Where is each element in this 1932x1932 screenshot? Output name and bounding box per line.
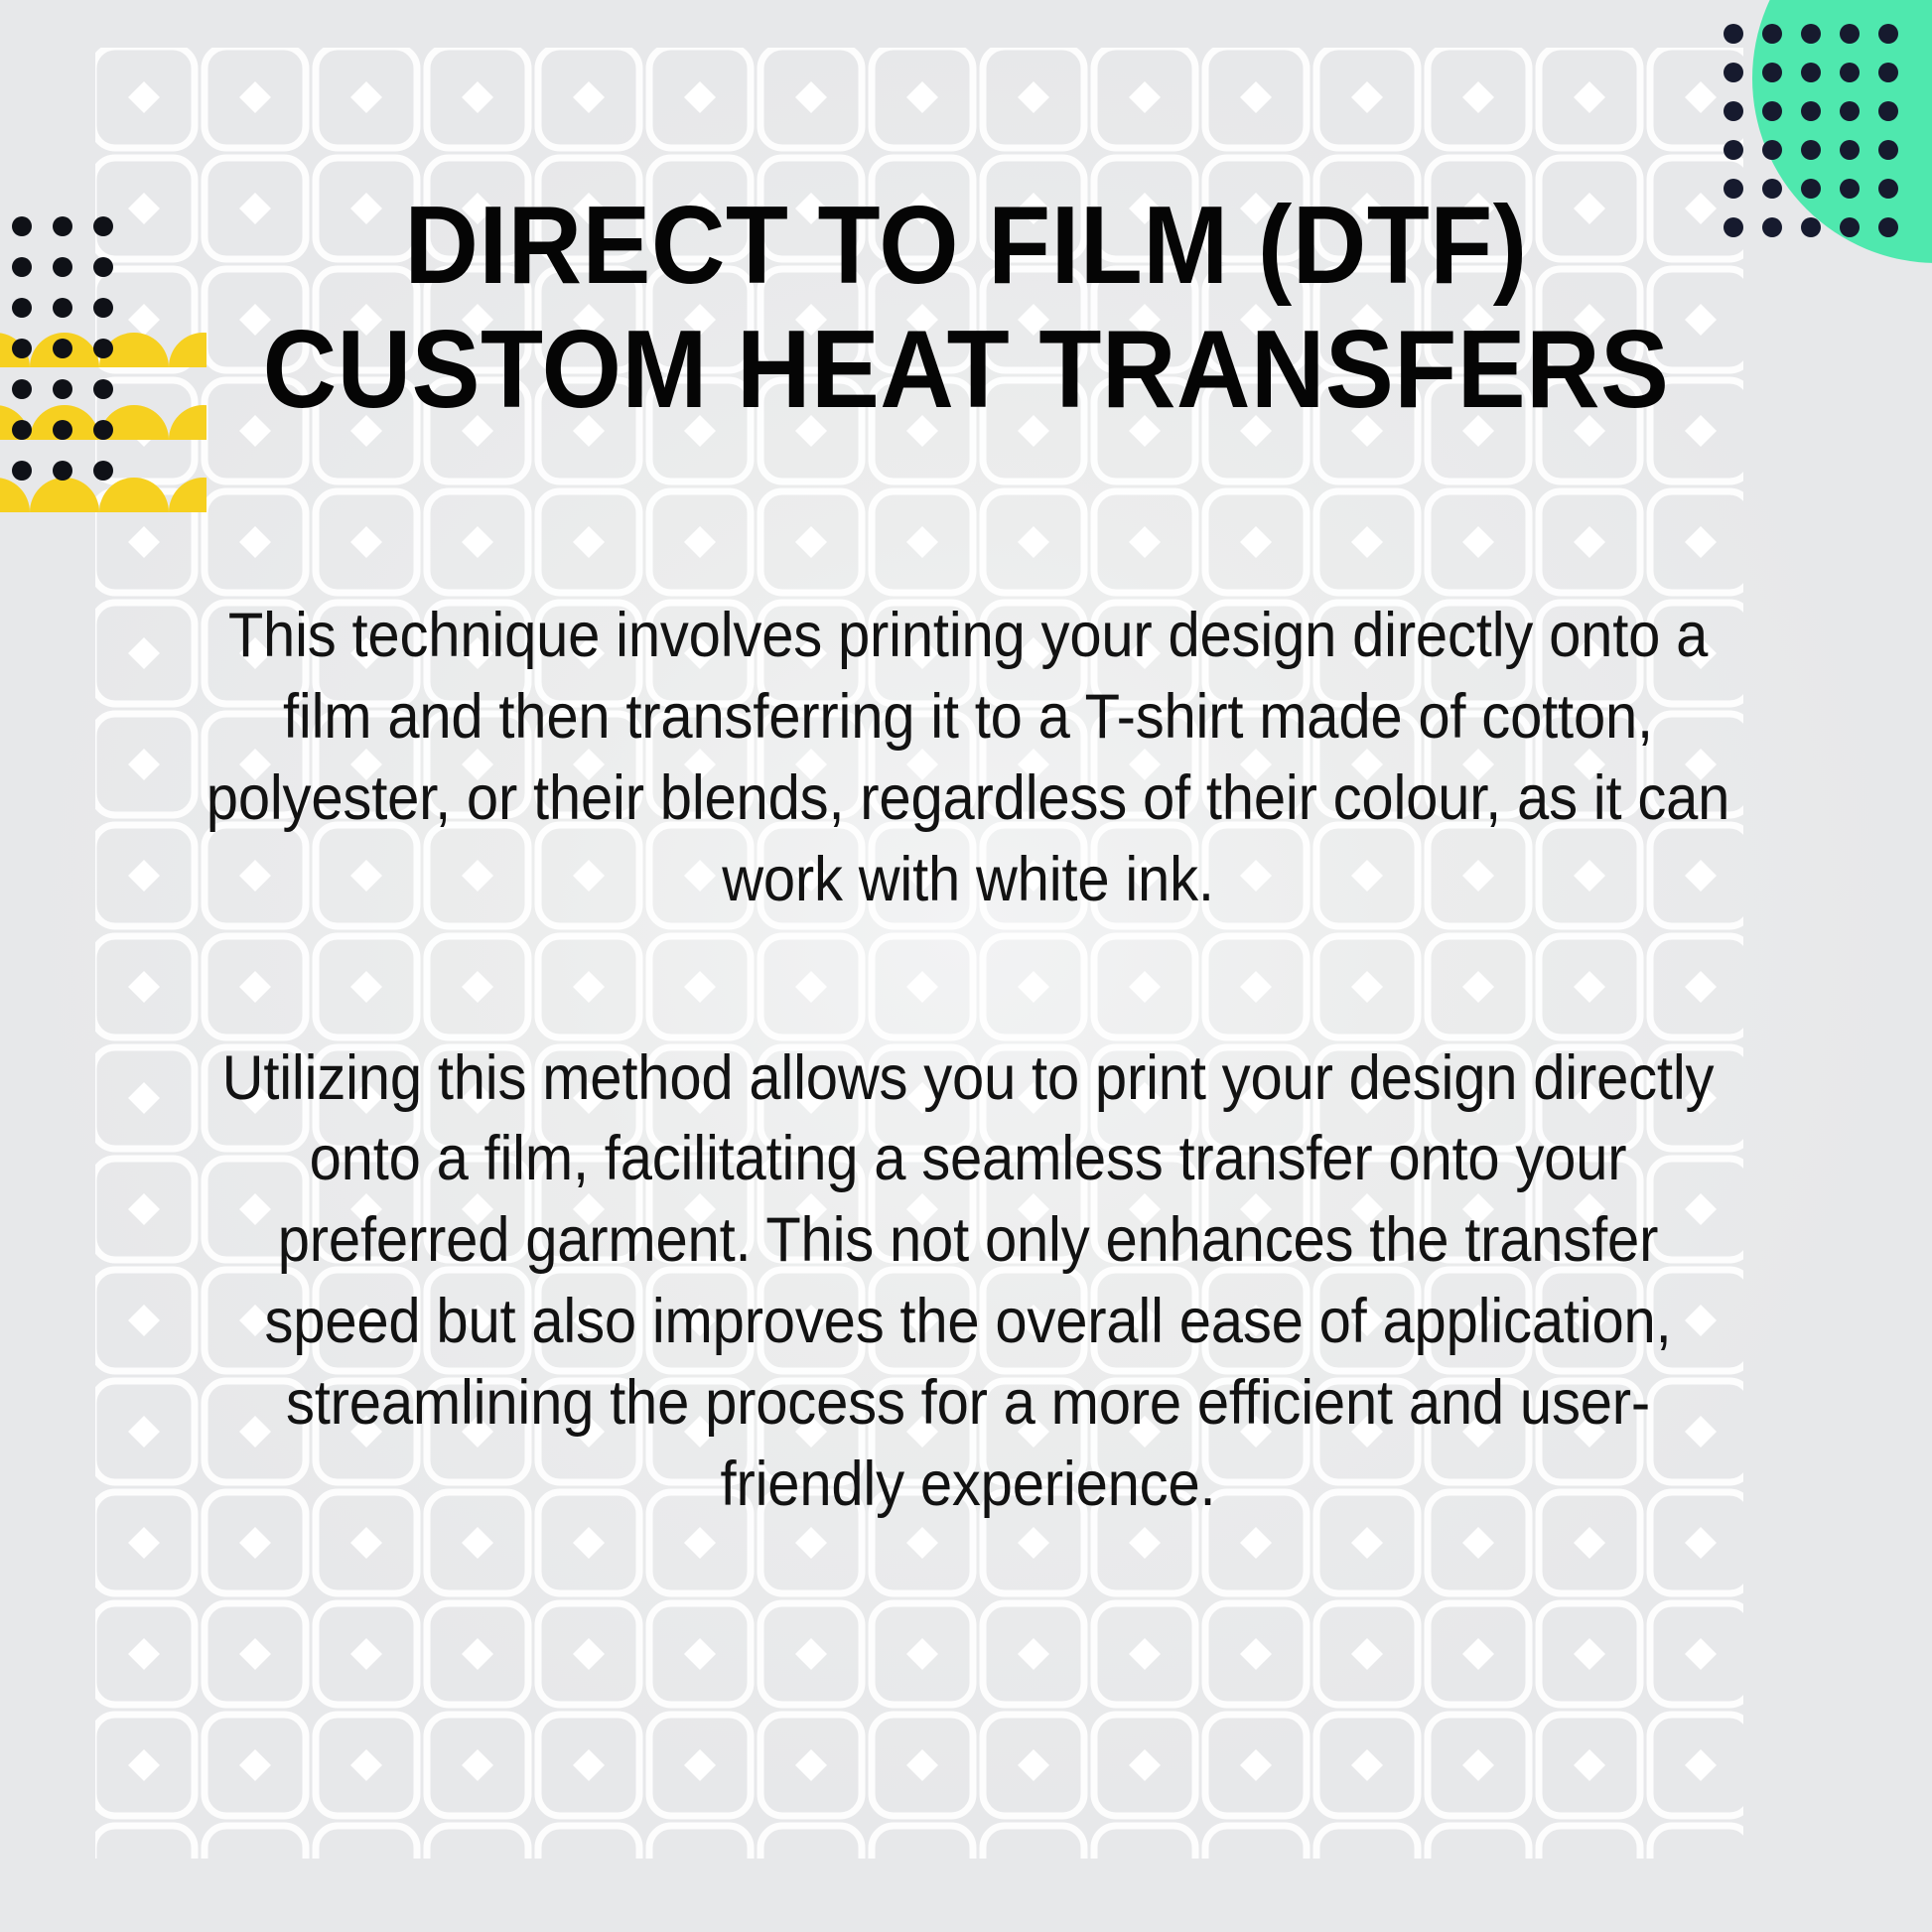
poster-content: DIRECT TO FILM (DTF) CUSTOM HEAT TRANSFE… [0,0,1932,1932]
body-paragraph-1: This technique involves printing your de… [197,596,1740,921]
body-paragraph-2: Utilizing this method allows you to prin… [197,1038,1740,1526]
page-title: DIRECT TO FILM (DTF) CUSTOM HEAT TRANSFE… [159,184,1773,433]
title-line-2: CUSTOM HEAT TRANSFERS [215,308,1717,432]
title-line-1: DIRECT TO FILM (DTF) [215,184,1717,308]
body-copy: This technique involves printing your de… [129,596,1807,1526]
poster-canvas: DIRECT TO FILM (DTF) CUSTOM HEAT TRANSFE… [0,0,1932,1932]
